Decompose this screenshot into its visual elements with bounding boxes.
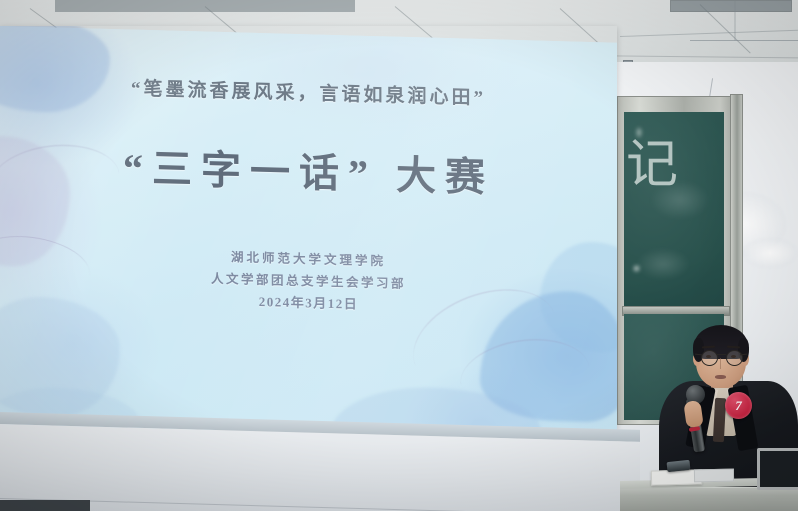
podium-paper-secondary xyxy=(694,469,734,483)
podium-monitor xyxy=(757,448,798,490)
speaker-glasses-lens-right xyxy=(726,350,743,366)
chalk-dot xyxy=(634,266,639,271)
slide-subtitle-quote: “笔墨流香展风采，言语如泉润心田” xyxy=(0,70,617,114)
speaker-mouth xyxy=(715,375,726,379)
classroom-photo: ✦ThreeStars 记 xyxy=(0,0,798,511)
wall-scuff-mark-2 xyxy=(742,238,798,268)
contestant-number-badge: 7 xyxy=(725,392,752,419)
chalk-smear-1 xyxy=(650,180,710,220)
floor-shadow-left xyxy=(0,500,90,511)
podium xyxy=(620,487,798,511)
ceiling-seam-right-vertical xyxy=(735,1,736,41)
ceiling-panel-dark-right xyxy=(670,0,792,12)
screen-surface: “笔墨流香展风采，言语如泉润心田” “三字一话” 大赛 湖北师范大学文理学院 人… xyxy=(0,26,617,430)
speaker-nose xyxy=(720,358,721,369)
projection-screen: “笔墨流香展风采，言语如泉润心田” “三字一话” 大赛 湖北师范大学文理学院 人… xyxy=(0,26,617,430)
ceiling-seam-right xyxy=(690,40,798,41)
chalk-smear-2 xyxy=(636,248,690,280)
presentation-slide: “笔墨流香展风采，言语如泉润心田” “三字一话” 大赛 湖北师范大学文理学院 人… xyxy=(0,26,617,430)
speaker-eye-right xyxy=(731,355,736,358)
speaker-eye-left xyxy=(706,355,711,358)
speaker-glasses-bridge xyxy=(716,354,726,355)
chalk-dot-2 xyxy=(637,128,641,137)
speaker-glasses-lens-left xyxy=(701,350,718,366)
